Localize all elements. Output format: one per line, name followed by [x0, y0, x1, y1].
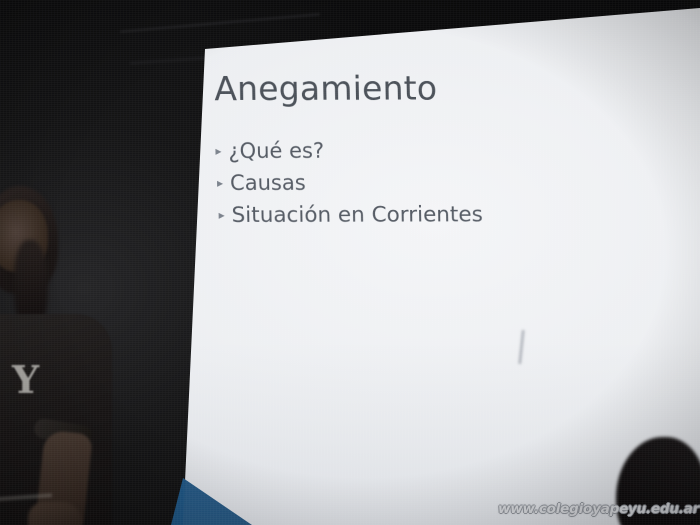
presentation-photo: Anegamiento ▸ ¿Qué es? ▸ Causas ▸ Situac… — [0, 0, 700, 525]
list-item-label: Situación en Corrientes — [231, 199, 483, 232]
list-item-label: ¿Qué es? — [228, 136, 324, 168]
triangle-bullet-icon: ▸ — [215, 145, 221, 157]
list-item: ▸ ¿Qué es? — [215, 135, 656, 168]
list-item: ▸ Causas — [217, 167, 657, 200]
hand — [28, 502, 82, 525]
list-item: ▸ Situación en Corrientes — [218, 199, 657, 233]
slide-title: Anegamiento — [214, 71, 655, 105]
watermark: www.colegioyapeyu.edu.ar — [498, 501, 699, 517]
triangle-bullet-icon: ▸ — [217, 177, 223, 189]
audience-member-left: Y — [0, 196, 108, 525]
slide-bullet-list: ▸ ¿Qué es? ▸ Causas ▸ Situación en Corri… — [215, 135, 657, 233]
shirt-logo: Y — [12, 361, 39, 399]
triangle-bullet-icon: ▸ — [219, 209, 225, 221]
list-item-label: Causas — [230, 168, 306, 200]
slide-content: Anegamiento ▸ ¿Qué es? ▸ Causas ▸ Situac… — [214, 71, 657, 233]
